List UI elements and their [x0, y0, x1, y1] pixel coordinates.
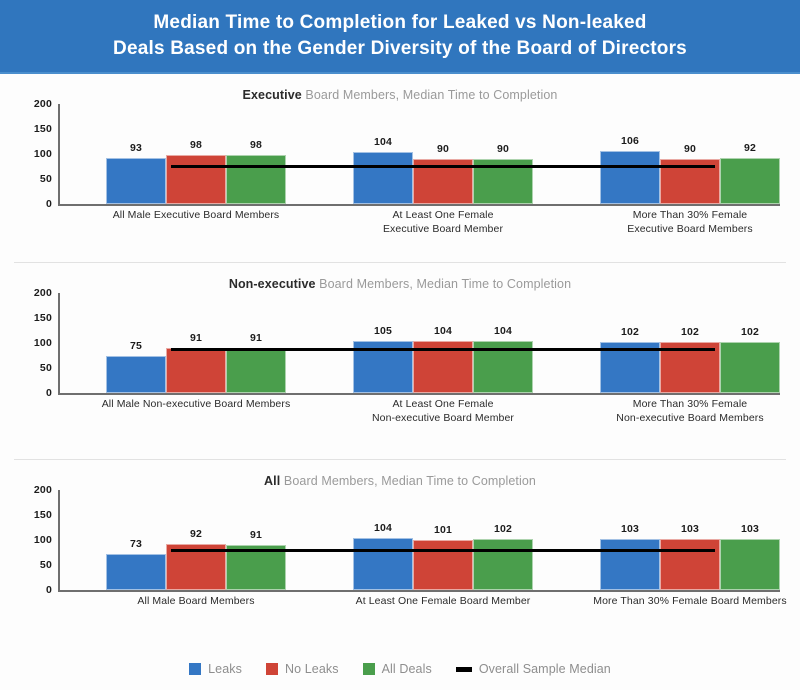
- plot-area-non-executive: 050100150200 759191105104104102102102 Al…: [14, 293, 786, 403]
- plot-area-all: 050100150200 739291104101102103103103 Al…: [14, 490, 786, 600]
- bar-value-label: 104: [353, 136, 413, 148]
- x-axis-category-label: More Than 30% Female Non-executive Board…: [570, 397, 800, 425]
- x-axis-category-label: More Than 30% Female Executive Board Mem…: [570, 208, 800, 236]
- y-axis-tick-label: 100: [34, 148, 52, 160]
- bar-value-label: 90: [473, 143, 533, 155]
- bar-leaks: [106, 158, 166, 205]
- legend-line-icon: [456, 667, 472, 672]
- bar-no-leaks: [413, 540, 473, 591]
- bar-all-deals: [720, 342, 780, 393]
- page-header: Median Time to Completion for Leaked vs …: [0, 0, 800, 74]
- chart-subtitle-rest: Board Members, Median Time to Completion: [316, 277, 572, 291]
- bar-value-label: 102: [660, 326, 720, 338]
- bar-value-label: 101: [413, 524, 473, 536]
- bar-leaks: [353, 538, 413, 590]
- legend-item[interactable]: Leaks: [189, 662, 242, 676]
- bar-no-leaks: [660, 539, 720, 591]
- bar-group-container: 759191105104104102102102: [58, 293, 780, 393]
- chart-subtitle-rest: Board Members, Median Time to Completion: [302, 88, 558, 102]
- bar-value-label: 75: [106, 340, 166, 352]
- x-axis-category-label: All Male Executive Board Members: [76, 208, 316, 222]
- y-axis-tick-label: 100: [34, 534, 52, 546]
- x-axis-line: [58, 393, 780, 395]
- x-axis-category-label: More Than 30% Female Board Members: [570, 594, 800, 608]
- bar-value-label: 98: [226, 139, 286, 151]
- chart-subtitle-emphasis: Executive: [243, 88, 302, 102]
- y-axis-tick-label: 150: [34, 509, 52, 521]
- bar-all-deals: [720, 158, 780, 204]
- x-axis-line: [58, 590, 780, 592]
- bar-leaks: [106, 356, 166, 394]
- y-axis-tick-label: 100: [34, 337, 52, 349]
- legend-item[interactable]: All Deals: [363, 662, 432, 676]
- chart-panel-all: All Board Members, Median Time to Comple…: [0, 460, 800, 644]
- legend-swatch-icon: [189, 663, 201, 675]
- bar-value-label: 103: [720, 523, 780, 535]
- bar-value-label: 73: [106, 538, 166, 550]
- bar-group-container: 739291104101102103103103: [58, 490, 780, 590]
- x-axis-category-label: All Male Board Members: [76, 594, 316, 608]
- page-title: Median Time to Completion for Leaked vs …: [113, 10, 687, 62]
- legend-item[interactable]: Overall Sample Median: [456, 662, 611, 676]
- bar-all-deals: [473, 539, 533, 590]
- bar-leaks: [353, 152, 413, 204]
- y-axis-tick-label: 0: [46, 387, 52, 399]
- y-axis-tick-label: 150: [34, 123, 52, 135]
- chart-subtitle-executive: Executive Board Members, Median Time to …: [0, 74, 800, 104]
- bar-no-leaks: [166, 348, 226, 394]
- overall-sample-median-line: [171, 165, 715, 168]
- chart-panel-non-executive: Non-executive Board Members, Median Time…: [0, 263, 800, 459]
- bar-value-label: 91: [226, 332, 286, 344]
- y-axis-tick-label: 200: [34, 484, 52, 496]
- bar-value-label: 102: [473, 523, 533, 535]
- bar-leaks: [106, 554, 166, 591]
- bar-leaks: [600, 151, 660, 204]
- x-axis-category-label: At Least One Female Non-executive Board …: [323, 397, 563, 425]
- bar-value-label: 92: [720, 142, 780, 154]
- y-axis-tick-label: 50: [40, 173, 52, 185]
- chart-subtitle-non-executive: Non-executive Board Members, Median Time…: [0, 263, 800, 293]
- y-axis-ticks: 050100150200: [14, 104, 52, 204]
- chart-panel-executive: Executive Board Members, Median Time to …: [0, 74, 800, 262]
- bar-value-label: 105: [353, 325, 413, 337]
- x-axis-category-label: All Male Non-executive Board Members: [76, 397, 316, 411]
- y-axis-tick-label: 50: [40, 362, 52, 374]
- chart-subtitle-rest: Board Members, Median Time to Completion: [280, 474, 536, 488]
- plot-area-executive: 050100150200 93989810490901069092 All Ma…: [14, 104, 786, 214]
- x-axis-category-label: At Least One Female Board Member: [323, 594, 563, 608]
- bar-value-label: 103: [600, 523, 660, 535]
- y-axis-tick-label: 0: [46, 198, 52, 210]
- bar-value-label: 103: [660, 523, 720, 535]
- legend-swatch-icon: [266, 663, 278, 675]
- bar-value-label: 106: [600, 135, 660, 147]
- bar-value-label: 104: [473, 325, 533, 337]
- legend-label: No Leaks: [285, 662, 339, 676]
- y-axis-tick-label: 200: [34, 287, 52, 299]
- x-axis-line: [58, 204, 780, 206]
- bar-leaks: [600, 539, 660, 591]
- bar-value-label: 90: [660, 143, 720, 155]
- chart-legend: LeaksNo LeaksAll DealsOverall Sample Med…: [0, 662, 800, 676]
- y-axis-tick-label: 200: [34, 98, 52, 110]
- bar-all-deals: [720, 539, 780, 591]
- overall-sample-median-line: [171, 549, 715, 552]
- y-axis-ticks: 050100150200: [14, 293, 52, 393]
- chart-subtitle-emphasis: Non-executive: [229, 277, 316, 291]
- bar-value-label: 91: [226, 529, 286, 541]
- bar-no-leaks: [166, 155, 226, 204]
- legend-item[interactable]: No Leaks: [266, 662, 339, 676]
- bar-value-label: 91: [166, 332, 226, 344]
- legend-label: Leaks: [208, 662, 242, 676]
- legend-label: All Deals: [382, 662, 432, 676]
- y-axis-tick-label: 0: [46, 584, 52, 596]
- bar-value-label: 92: [166, 528, 226, 540]
- y-axis-tick-label: 50: [40, 559, 52, 571]
- bar-value-label: 102: [600, 326, 660, 338]
- legend-swatch-icon: [363, 663, 375, 675]
- legend-label: Overall Sample Median: [479, 662, 611, 676]
- bar-value-label: 102: [720, 326, 780, 338]
- bar-value-label: 104: [353, 522, 413, 534]
- bar-group-container: 93989810490901069092: [58, 104, 780, 204]
- y-axis-tick-label: 150: [34, 312, 52, 324]
- bar-all-deals: [226, 155, 286, 204]
- bar-value-label: 90: [413, 143, 473, 155]
- bar-value-label: 104: [413, 325, 473, 337]
- chart-page: Median Time to Completion for Leaked vs …: [0, 0, 800, 690]
- bar-value-label: 98: [166, 139, 226, 151]
- chart-subtitle-all: All Board Members, Median Time to Comple…: [0, 460, 800, 490]
- bar-value-label: 93: [106, 142, 166, 154]
- overall-sample-median-line: [171, 348, 715, 351]
- bar-all-deals: [226, 348, 286, 394]
- chart-subtitle-emphasis: All: [264, 474, 280, 488]
- y-axis-ticks: 050100150200: [14, 490, 52, 590]
- x-axis-category-label: At Least One Female Executive Board Memb…: [323, 208, 563, 236]
